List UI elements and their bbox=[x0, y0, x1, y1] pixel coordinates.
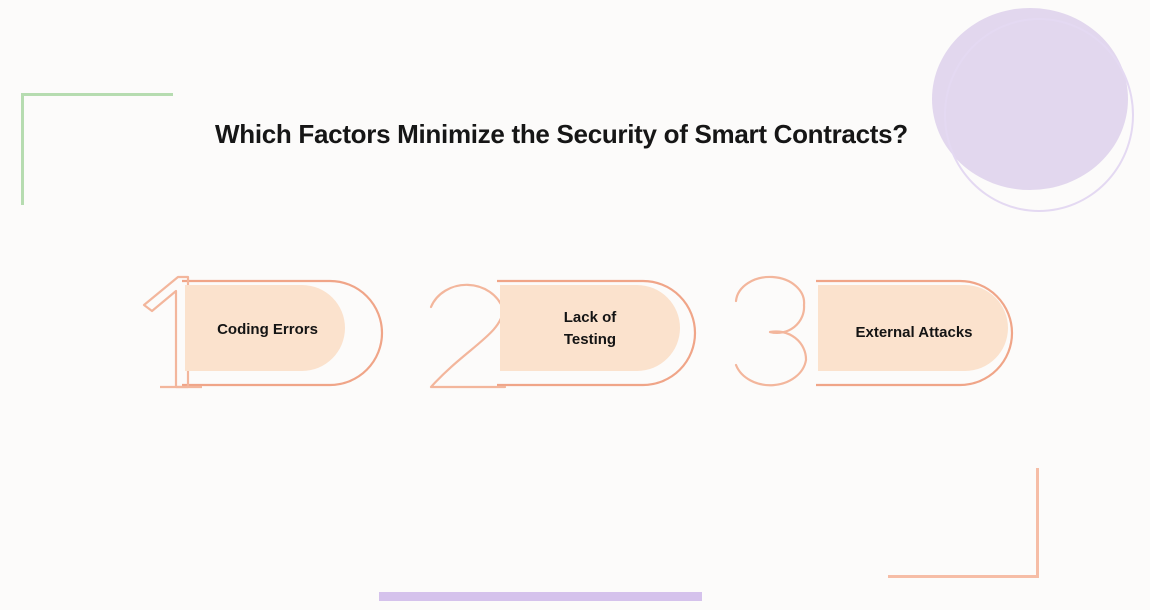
decorative-circle-outline bbox=[944, 18, 1134, 212]
card-3-label: External Attacks bbox=[818, 322, 1010, 344]
card-2-label: Lack of Testing bbox=[500, 307, 680, 351]
card-1-label: Coding Errors bbox=[185, 319, 350, 341]
factor-card-1[interactable]: Coding Errors bbox=[140, 275, 390, 393]
slide-canvas: Which Factors Minimize the Security of S… bbox=[0, 0, 1150, 610]
decorative-bracket-top-left bbox=[21, 93, 173, 205]
factor-card-2[interactable]: Lack of Testing bbox=[425, 275, 705, 393]
factor-card-3[interactable]: External Attacks bbox=[728, 275, 1018, 393]
page-title: Which Factors Minimize the Security of S… bbox=[215, 119, 975, 150]
card-3-numeral bbox=[736, 277, 806, 385]
factor-cards-row: Coding Errors Lack of Testing External A… bbox=[0, 275, 1150, 400]
decorative-bracket-bottom-right bbox=[888, 468, 1039, 578]
decorative-bar-bottom bbox=[379, 592, 702, 601]
card-2-numeral bbox=[431, 285, 505, 387]
card-1-numeral bbox=[144, 277, 188, 387]
